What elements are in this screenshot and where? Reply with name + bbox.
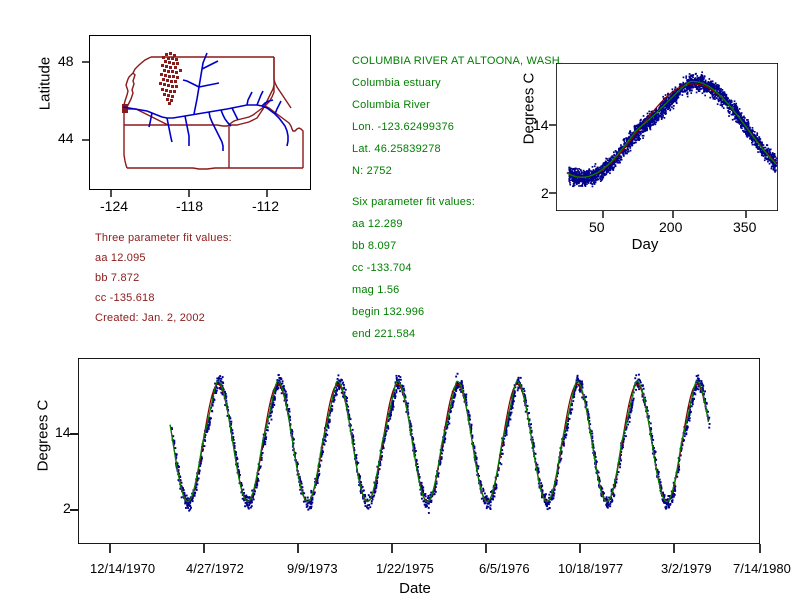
- seasonal-xtick-50: 50: [589, 219, 605, 235]
- seasonal-frame: [556, 63, 778, 211]
- seasonal-xtick-350: 350: [733, 219, 756, 235]
- seasonal-xticks: [556, 211, 782, 221]
- time-series-frame: [78, 358, 760, 544]
- time-series-xtick-1: 4/27/1972: [186, 561, 244, 576]
- time-series-plot: [78, 358, 760, 544]
- station-longitude: Lon. -123.62499376: [352, 121, 454, 133]
- time-series-yticks: [70, 358, 80, 548]
- six-param-aa: aa 12.289: [352, 218, 403, 230]
- station-location-map: [89, 35, 311, 190]
- three-param-cc: cc -135.618: [95, 292, 155, 304]
- three-param-header: Three parameter fit values:: [95, 232, 232, 244]
- time-series-xtick-5: 10/18/1977: [558, 561, 623, 576]
- seasonal-ytick-2: 2: [541, 185, 549, 201]
- six-param-bb: bb 8.097: [352, 240, 396, 252]
- seasonal-ytick-14: 14: [533, 117, 549, 133]
- three-param-aa: aa 12.095: [95, 252, 146, 264]
- seasonal-xtick-200: 200: [659, 219, 682, 235]
- map-ytick-44: 44: [58, 130, 74, 146]
- seasonal-canvas: [556, 63, 778, 211]
- station-region: Columbia estuary: [352, 77, 441, 89]
- map-xticks: [89, 190, 315, 200]
- time-series-xtick-7: 7/14/1980: [733, 561, 791, 576]
- map-ytick-48: 48: [58, 53, 74, 69]
- created-date: Created: Jan. 2, 2002: [95, 312, 205, 324]
- time-series-xticks: [78, 544, 768, 556]
- seasonal-cycle-plot: [556, 63, 778, 211]
- time-series-xtick-2: 9/9/1973: [287, 561, 338, 576]
- time-series-xtick-4: 6/5/1976: [479, 561, 530, 576]
- map-y-axis-label: Latitude: [37, 44, 54, 124]
- seasonal-x-axis-label: Day: [600, 236, 690, 253]
- six-param-header: Six parameter fit values:: [352, 196, 475, 208]
- time-series-canvas: [78, 358, 760, 544]
- six-param-begin: begin 132.996: [352, 306, 424, 318]
- six-param-end: end 221.584: [352, 328, 415, 340]
- station-sample-count: N: 2752: [352, 165, 392, 177]
- time-series-ytick-14: 14: [55, 424, 71, 440]
- time-series-x-axis-label: Date: [375, 580, 455, 597]
- time-series-xtick-6: 3/2/1979: [661, 561, 712, 576]
- seasonal-y-axis-label: Degrees C: [521, 59, 538, 159]
- map-xtick--124: -124: [100, 198, 128, 214]
- map-xtick--112: -112: [252, 198, 279, 214]
- station-river: Columbia River: [352, 99, 430, 111]
- map-canvas: [89, 35, 311, 190]
- six-param-mag: mag 1.56: [352, 284, 399, 296]
- six-param-cc: cc -133.704: [352, 262, 412, 274]
- time-series-y-axis-label: Degrees C: [35, 381, 52, 491]
- map-yticks: [82, 35, 91, 195]
- time-series-xtick-0: 12/14/1970: [90, 561, 155, 576]
- time-series-xtick-3: 1/22/1975: [376, 561, 434, 576]
- three-param-bb: bb 7.872: [95, 272, 139, 284]
- seasonal-yticks: [549, 63, 558, 213]
- map-xtick--118: -118: [176, 198, 203, 214]
- station-latitude: Lat. 46.25839278: [352, 143, 441, 155]
